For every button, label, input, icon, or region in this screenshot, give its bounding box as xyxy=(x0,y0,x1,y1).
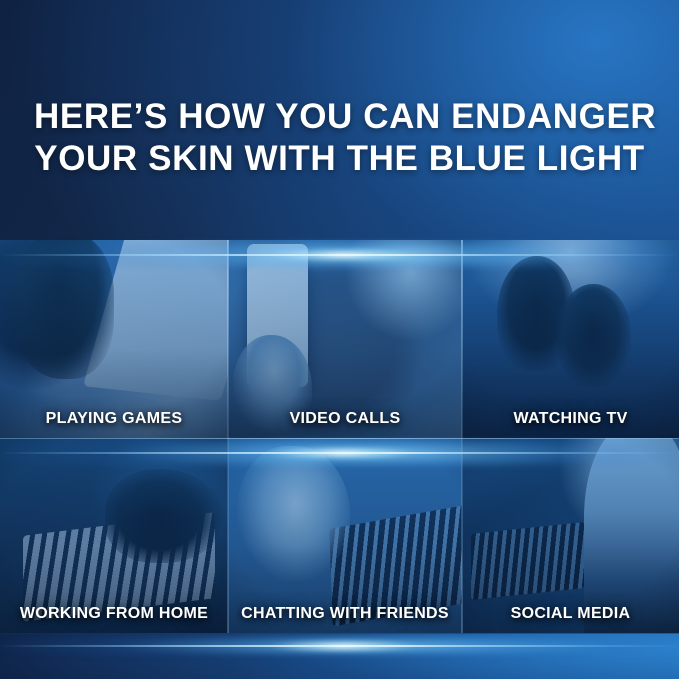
tile-social-media: SOCIAL MEDIA xyxy=(462,438,679,633)
grid-divider-vertical-1 xyxy=(227,240,229,633)
photo-chatting-with-friends xyxy=(228,438,462,633)
photo-playing-games xyxy=(0,240,228,438)
poster-canvas: HERE’S HOW YOU CAN ENDANGER YOUR SKIN WI… xyxy=(0,0,679,679)
tile-caption-watching-tv: WATCHING TV xyxy=(462,410,679,428)
photo-watching-tv xyxy=(462,240,679,438)
grid-divider-horizontal xyxy=(0,438,679,439)
tile-caption-working-from-home: WORKING FROM HOME xyxy=(0,605,228,623)
tile-chatting-with-friends: CHATTING WITH FRIENDS xyxy=(228,438,462,633)
photo-working-from-home xyxy=(0,438,228,633)
tile-playing-games: PLAYING GAMES xyxy=(0,240,228,438)
headline: HERE’S HOW YOU CAN ENDANGER YOUR SKIN WI… xyxy=(0,96,679,181)
tile-caption-video-calls: VIDEO CALLS xyxy=(228,410,462,428)
headline-line-2: YOUR SKIN WITH THE BLUE LIGHT xyxy=(34,138,645,180)
tile-caption-playing-games: PLAYING GAMES xyxy=(0,410,228,428)
photo-social-media xyxy=(462,438,679,633)
tile-watching-tv: WATCHING TV xyxy=(462,240,679,438)
grid-divider-vertical-2 xyxy=(461,240,463,633)
headline-line-1: HERE’S HOW YOU CAN ENDANGER xyxy=(34,96,645,138)
tile-video-calls: VIDEO CALLS xyxy=(228,240,462,438)
footer-band xyxy=(0,634,679,679)
tile-caption-social-media: SOCIAL MEDIA xyxy=(462,605,679,623)
photo-grid: PLAYING GAMES VIDEO CALLS WATCHING TV WO… xyxy=(0,240,679,633)
tile-caption-chatting-with-friends: CHATTING WITH FRIENDS xyxy=(228,605,462,623)
photo-video-calls xyxy=(228,240,462,438)
tile-working-from-home: WORKING FROM HOME xyxy=(0,438,228,633)
